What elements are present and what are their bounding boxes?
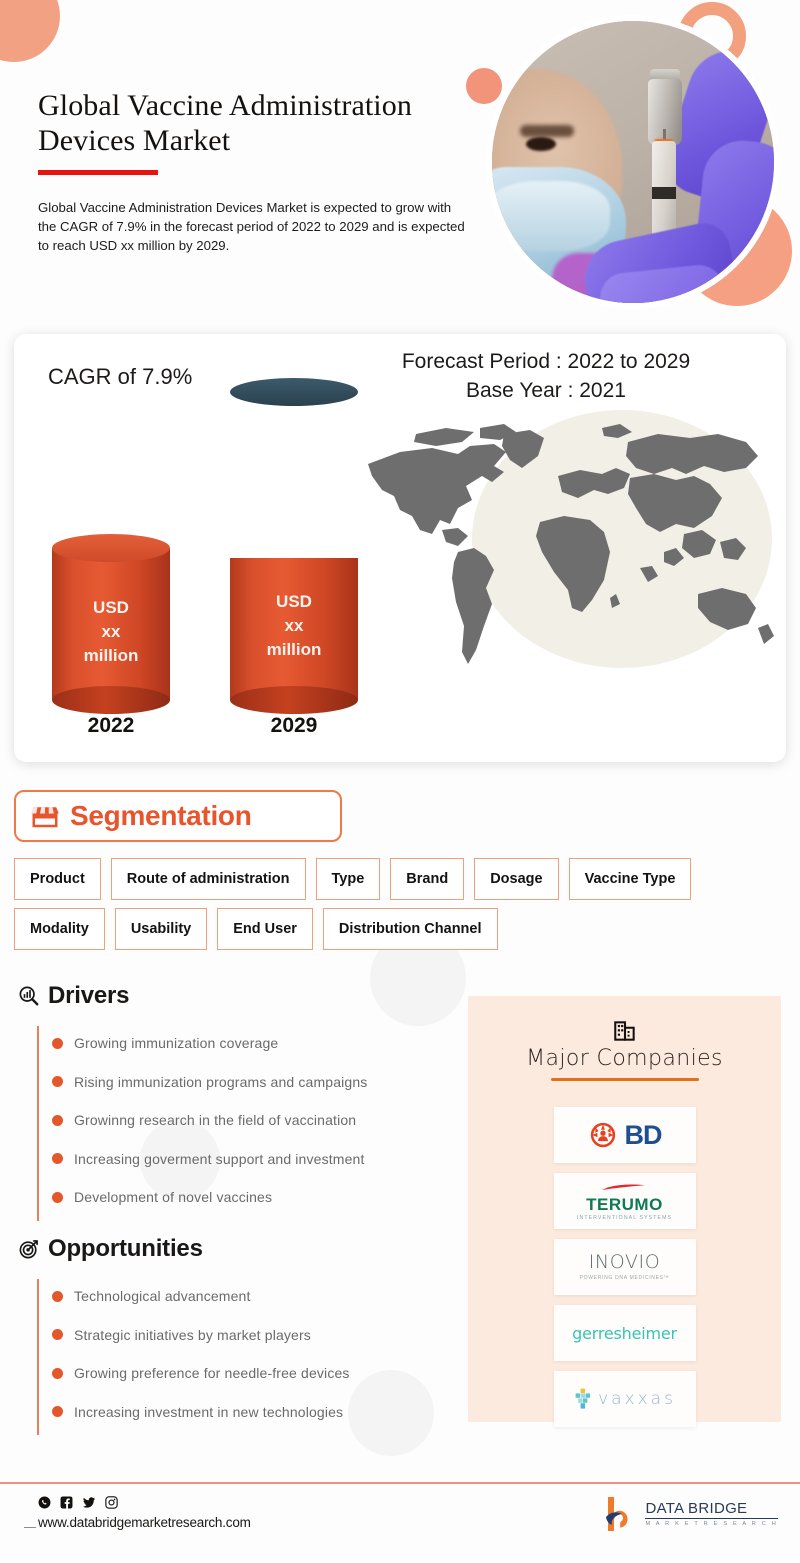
page-title: Global Vaccine Administration Devices Ma… <box>38 88 488 158</box>
bullet-dot <box>52 1153 63 1164</box>
company-logo-bd[interactable]: BD <box>554 1107 696 1163</box>
bullet-dot <box>52 1406 63 1417</box>
segmentation-tag[interactable]: Modality <box>14 908 105 950</box>
facebook-icon[interactable] <box>60 1496 73 1509</box>
footer-dash <box>24 1527 36 1528</box>
twitter-icon[interactable] <box>82 1496 96 1509</box>
page-subtitle: Global Vaccine Administration Devices Ma… <box>38 199 468 255</box>
bar-2029: USD xx million 2029 <box>230 378 358 700</box>
bullet-dot <box>52 1192 63 1203</box>
list-item: Development of novel vaccines <box>38 1178 458 1217</box>
segmentation-tag[interactable]: Product <box>14 858 101 900</box>
list-item: Increasing goverment support and investm… <box>38 1140 458 1179</box>
list-item: Growinng research in the field of vaccin… <box>38 1101 458 1140</box>
chart-magnifier-icon <box>18 985 40 1007</box>
bullet-dot <box>52 1115 63 1126</box>
inovio-logo-sub: POWERING DNA MEDICINES™ <box>580 1276 670 1281</box>
brand-tagline: M A R K E T R E S E A R C H <box>645 1522 778 1528</box>
bd-burst-icon <box>588 1120 618 1150</box>
bar-2029-value: USD xx million <box>230 590 358 662</box>
list-item: Strategic initiatives by market players <box>38 1316 458 1355</box>
segmentation-header: Segmentation <box>14 790 342 842</box>
drivers-list: Growing immunization coverage Rising imm… <box>18 1024 458 1217</box>
segmentation-tag[interactable]: Brand <box>390 858 464 900</box>
footer-divider <box>0 1482 800 1484</box>
base-year: Base Year : 2021 <box>336 377 756 406</box>
major-companies-underline <box>551 1078 699 1081</box>
title-underline <box>38 170 158 175</box>
brand-name: DATA BRIDGE <box>645 1501 778 1519</box>
major-companies-title: Major Companies <box>468 1046 781 1071</box>
segmentation-row-2: Modality Usability End User Distribution… <box>14 908 786 950</box>
list-item-label: Growing preference for needle-free devic… <box>74 1365 350 1381</box>
segmentation-tag[interactable]: Distribution Channel <box>323 908 498 950</box>
vaxxas-mark-icon <box>573 1387 593 1411</box>
bar-2022-label: 2022 <box>52 714 170 738</box>
list-item: Growing preference for needle-free devic… <box>38 1354 458 1393</box>
company-logo-vaxxas[interactable]: vaxxas <box>554 1371 696 1427</box>
segmentation-tag[interactable]: Dosage <box>474 858 558 900</box>
list-item: Growing immunization coverage <box>38 1024 458 1063</box>
drivers-title: Drivers <box>48 982 129 1010</box>
target-arrow-icon <box>18 1238 40 1260</box>
list-item-label: Development of novel vaccines <box>74 1189 272 1205</box>
terumo-logo-sub: INTERVENTIONAL SYSTEMS <box>577 1216 672 1221</box>
market-size-chart-card: CAGR of 7.9% Forecast Period : 2022 to 2… <box>14 334 786 762</box>
data-bridge-mark-icon <box>604 1495 638 1533</box>
bar-2029-label: 2029 <box>230 714 358 738</box>
whatsapp-icon[interactable] <box>38 1496 51 1509</box>
list-item-label: Increasing investment in new technologie… <box>74 1404 343 1420</box>
bullet-dot <box>52 1038 63 1049</box>
list-item-label: Strategic initiatives by market players <box>74 1327 311 1343</box>
bullet-dot <box>52 1368 63 1379</box>
company-logo-gerresheimer[interactable]: gerresheimer <box>554 1305 696 1361</box>
company-logo-inovio[interactable]: INOVIO POWERING DNA MEDICINES™ <box>554 1239 696 1295</box>
decorative-circle-top-left <box>0 0 60 62</box>
opportunities-section: Opportunities Technological advancement … <box>18 1235 458 1431</box>
gerresheimer-logo-text: gerresheimer <box>572 1324 677 1343</box>
bullet-dot <box>52 1291 63 1302</box>
segmentation-row-1: Product Route of administration Type Bra… <box>14 858 786 900</box>
list-item-label: Technological advancement <box>74 1288 251 1304</box>
major-companies-panel: Major Companies BD <box>468 996 781 1422</box>
list-item-label: Growing immunization coverage <box>74 1035 278 1051</box>
world-map <box>354 404 784 724</box>
terumo-logo-text: TERUMO <box>577 1196 672 1213</box>
vaxxas-logo-text: vaxxas <box>598 1389 676 1409</box>
opportunities-list: Technological advancement Strategic init… <box>18 1277 458 1431</box>
drivers-section: Drivers Growing immunization coverage Ri… <box>18 982 458 1217</box>
inovio-logo-text: INOVIO <box>580 1253 670 1272</box>
buildings-icon <box>612 1018 638 1044</box>
list-item: Technological advancement <box>38 1277 458 1316</box>
segmentation-tag[interactable]: Route of administration <box>111 858 306 900</box>
segmentation-tag[interactable]: Vaccine Type <box>569 858 692 900</box>
footer-left: www.databridgemarketresearch.com <box>38 1496 251 1530</box>
bullet-dot <box>52 1329 63 1340</box>
list-item-label: Growinng research in the field of vaccin… <box>74 1112 356 1128</box>
forecast-period: Forecast Period : 2022 to 2029 <box>336 348 756 377</box>
segmentation-tag-rows: Product Route of administration Type Bra… <box>14 858 786 958</box>
bar-2022: USD xx million 2022 <box>52 534 170 700</box>
company-logo-terumo[interactable]: TERUMO INTERVENTIONAL SYSTEMS <box>554 1173 696 1229</box>
bullet-dot <box>52 1076 63 1087</box>
company-logo-grid: BD TERUMO INTERVENTIONAL SYSTEMS INOVIO … <box>468 1107 781 1427</box>
hero-image <box>492 21 774 303</box>
footer-website-url[interactable]: www.databridgemarketresearch.com <box>38 1515 251 1530</box>
list-item-label: Rising immunization programs and campaig… <box>74 1074 367 1090</box>
list-item-label: Increasing goverment support and investm… <box>74 1151 365 1167</box>
brand-logo: DATA BRIDGE M A R K E T R E S E A R C H <box>604 1495 778 1533</box>
social-icons <box>38 1496 251 1509</box>
opportunities-title: Opportunities <box>48 1235 203 1263</box>
bd-logo-text: BD <box>625 1120 662 1151</box>
bar-2022-value: USD xx million <box>52 596 170 668</box>
terumo-swoosh-icon <box>601 1183 647 1192</box>
cagr-label: CAGR of 7.9% <box>48 364 192 390</box>
segmentation-title: Segmentation <box>70 800 252 832</box>
segmentation-tag[interactable]: Usability <box>115 908 207 950</box>
forecast-info: Forecast Period : 2022 to 2029 Base Year… <box>336 348 756 406</box>
segmentation-tag[interactable]: Type <box>316 858 381 900</box>
segmentation-tag[interactable]: End User <box>217 908 313 950</box>
header-block: Global Vaccine Administration Devices Ma… <box>38 88 488 255</box>
world-map-svg <box>354 412 784 712</box>
instagram-icon[interactable] <box>105 1496 118 1509</box>
list-item: Increasing investment in new technologie… <box>38 1393 458 1432</box>
list-item: Rising immunization programs and campaig… <box>38 1063 458 1102</box>
storefront-icon <box>30 801 60 831</box>
